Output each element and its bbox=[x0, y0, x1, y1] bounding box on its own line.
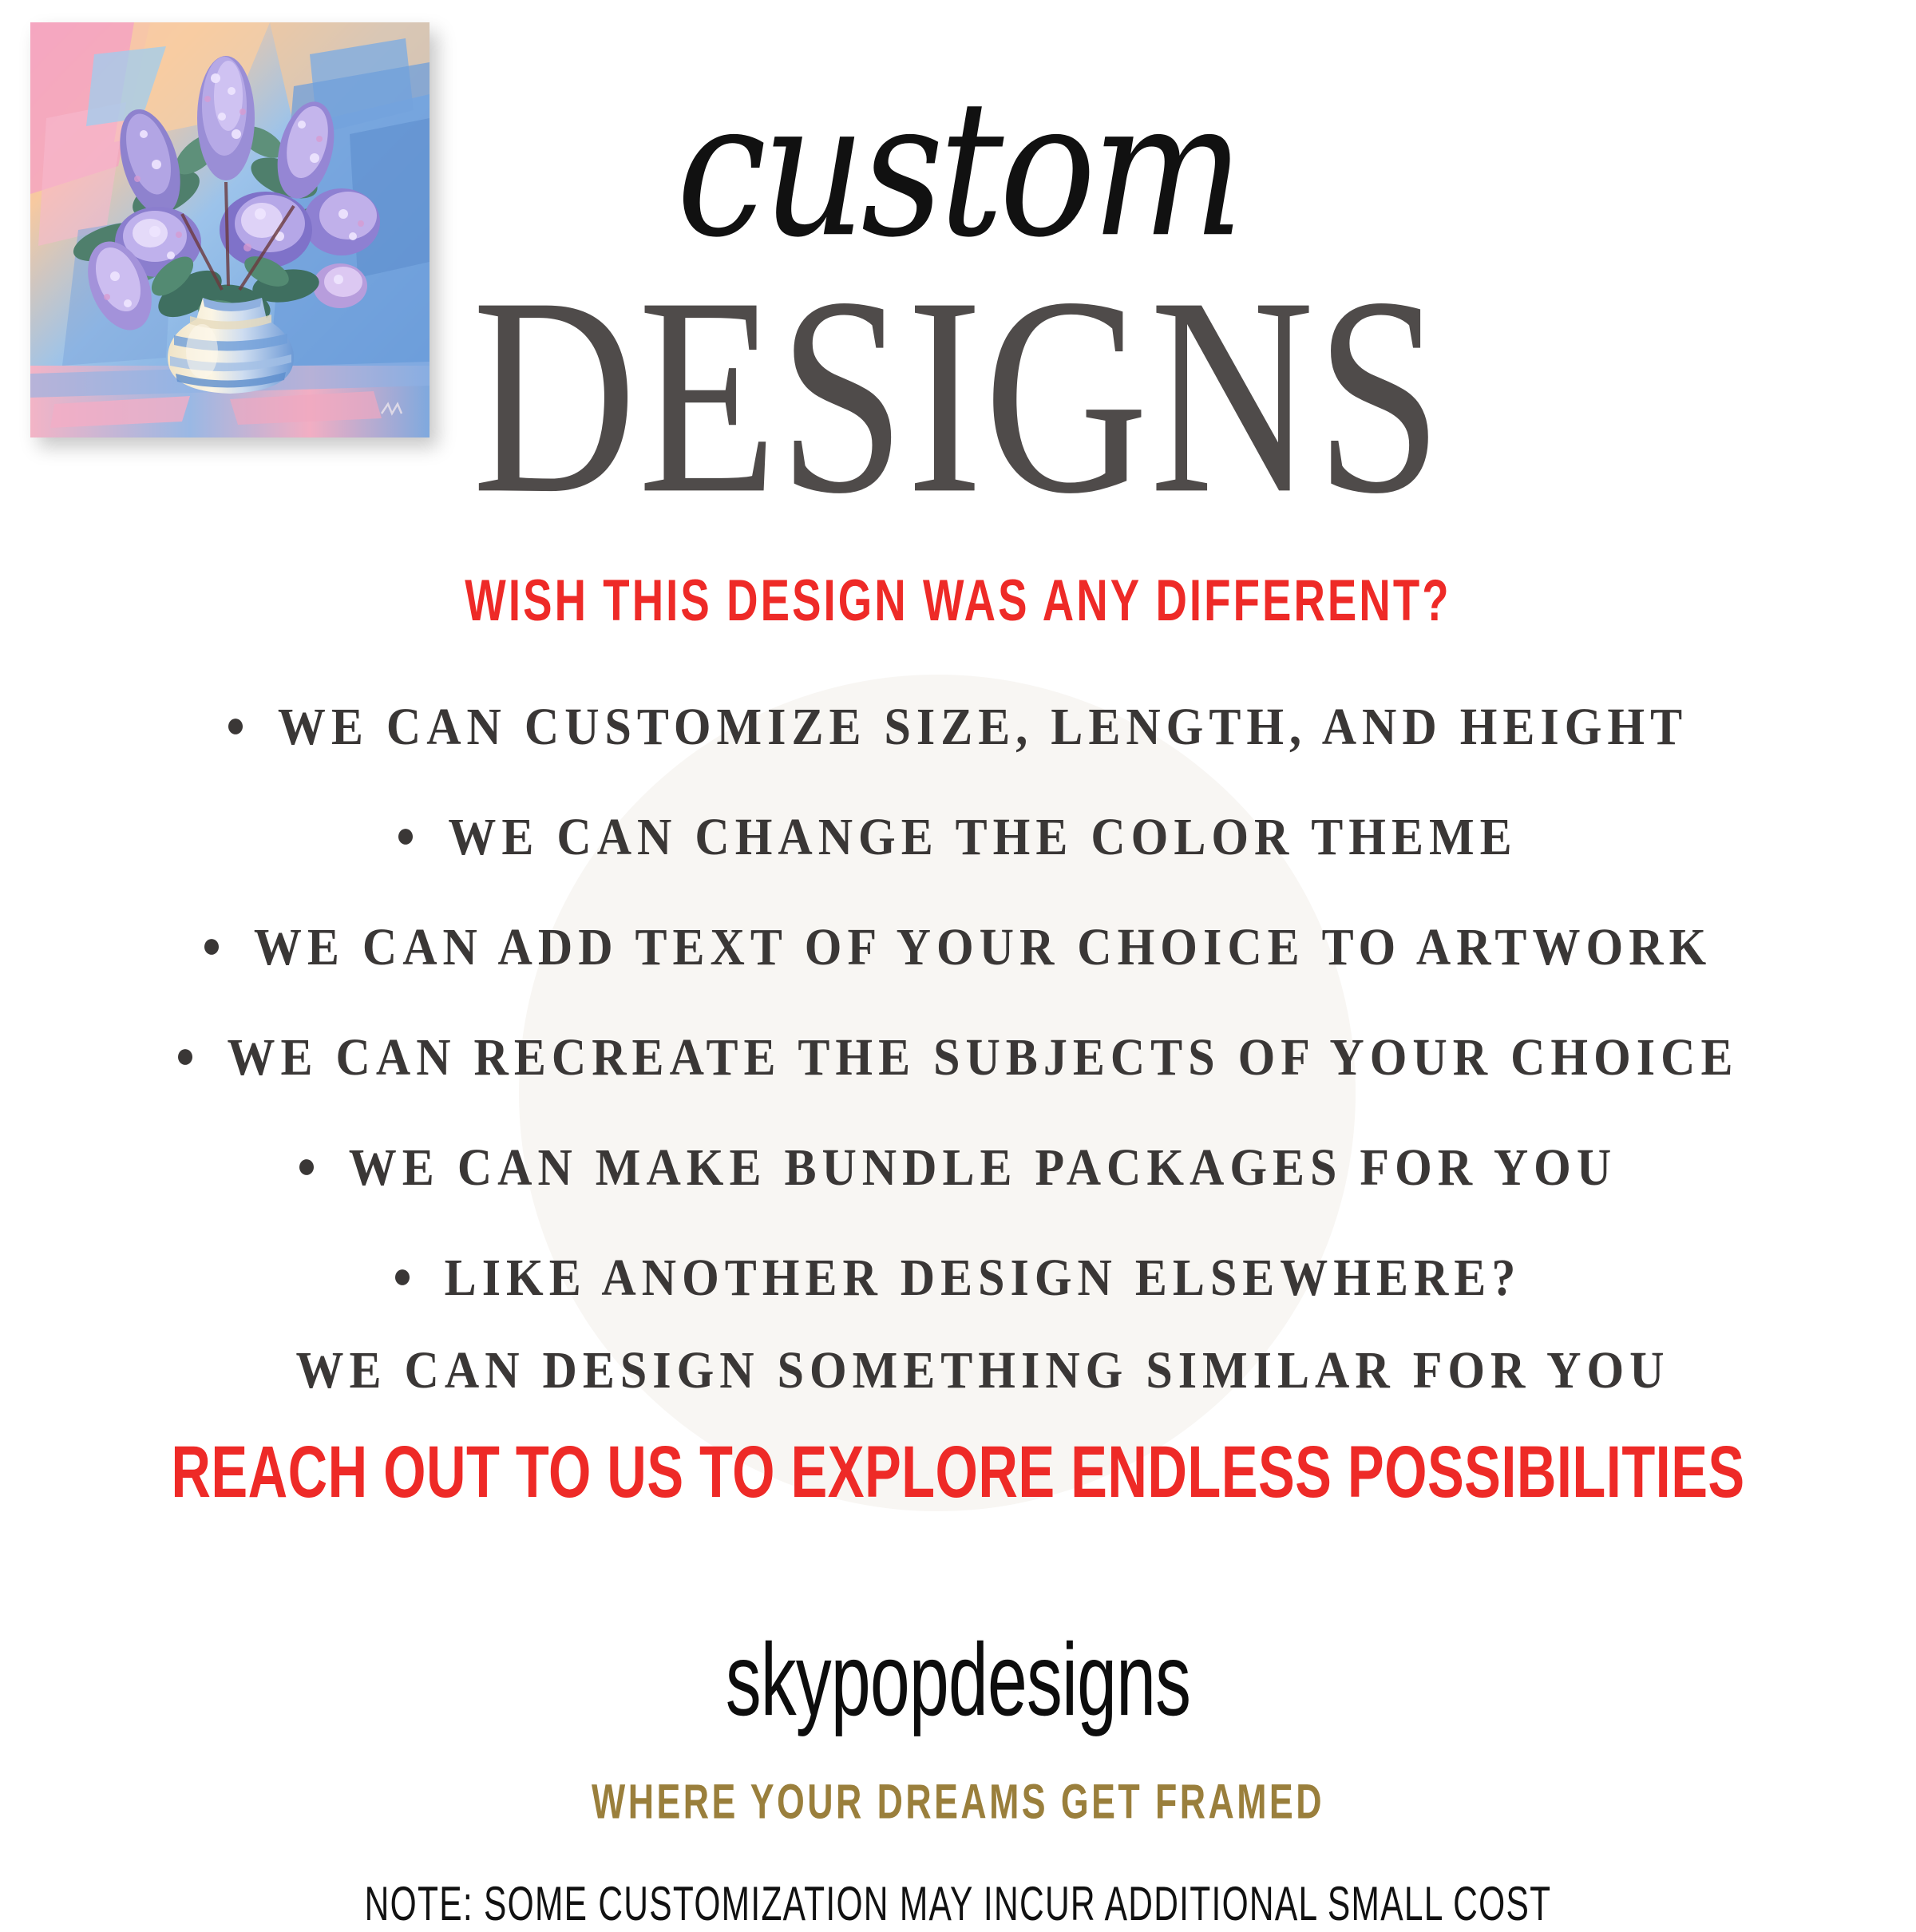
list-item: WE CAN CUSTOMIZE SIZE, LENGTH, AND HEIGH… bbox=[0, 700, 1916, 753]
brand-name: skypopdesigns bbox=[192, 1629, 1724, 1732]
cta-text: REACH OUT TO US TO EXPLORE ENDLESS POSSI… bbox=[115, 1429, 1801, 1514]
bullet-dot-icon bbox=[228, 719, 243, 734]
list-item: WE CAN MAKE BUNDLE PACKAGES FOR YOU bbox=[0, 1141, 1916, 1194]
bullet-dot-icon bbox=[398, 829, 413, 845]
list-item-continuation: WE CAN DESIGN SOMETHING SIMILAR FOR YOU bbox=[0, 1344, 1916, 1396]
bullet-dot-icon bbox=[299, 1159, 314, 1175]
lilac-painting-illustration bbox=[30, 22, 430, 437]
artwork-thumbnail bbox=[30, 22, 430, 437]
footer-note: NOTE: SOME CUSTOMIZATION MAY INCUR ADDIT… bbox=[144, 1876, 1772, 1932]
list-item: WE CAN ADD TEXT OF YOUR CHOICE TO ARTWOR… bbox=[0, 920, 1916, 973]
feature-list: WE CAN CUSTOMIZE SIZE, LENGTH, AND HEIGH… bbox=[0, 703, 1916, 1456]
list-item-label: WE CAN RECREATE THE SUBJECTS OF YOUR CHO… bbox=[228, 1028, 1739, 1087]
subtitle-question: WISH THIS DESIGN WAS ANY DIFFERENT? bbox=[115, 568, 1801, 635]
list-item: LIKE ANOTHER DESIGN ELSEWHERE? bbox=[0, 1251, 1916, 1304]
list-item-label: LIKE ANOTHER DESIGN ELSEWHERE? bbox=[445, 1249, 1522, 1307]
list-item-label: WE CAN DESIGN SOMETHING SIMILAR FOR YOU bbox=[296, 1341, 1670, 1400]
list-item: WE CAN RECREATE THE SUBJECTS OF YOUR CHO… bbox=[0, 1031, 1916, 1083]
bullet-dot-icon bbox=[204, 939, 219, 955]
list-item: WE CAN CHANGE THE COLOR THEME bbox=[0, 810, 1916, 863]
bullet-dot-placeholder-icon bbox=[247, 1362, 261, 1378]
list-item-label: WE CAN MAKE BUNDLE PACKAGES FOR YOU bbox=[349, 1138, 1617, 1197]
list-item-label: WE CAN CUSTOMIZE SIZE, LENGTH, AND HEIGH… bbox=[278, 698, 1688, 756]
footer-block: skypopdesigns WHERE YOUR DREAMS GET FRAM… bbox=[0, 1629, 1916, 1922]
list-item-label: WE CAN CHANGE THE COLOR THEME bbox=[448, 808, 1517, 866]
bullet-dot-icon bbox=[395, 1269, 410, 1285]
brand-tagline: WHERE YOUR DREAMS GET FRAMED bbox=[134, 1774, 1782, 1831]
list-item-label: WE CAN ADD TEXT OF YOUR CHOICE TO ARTWOR… bbox=[254, 918, 1712, 976]
bullet-dot-icon bbox=[178, 1049, 192, 1065]
